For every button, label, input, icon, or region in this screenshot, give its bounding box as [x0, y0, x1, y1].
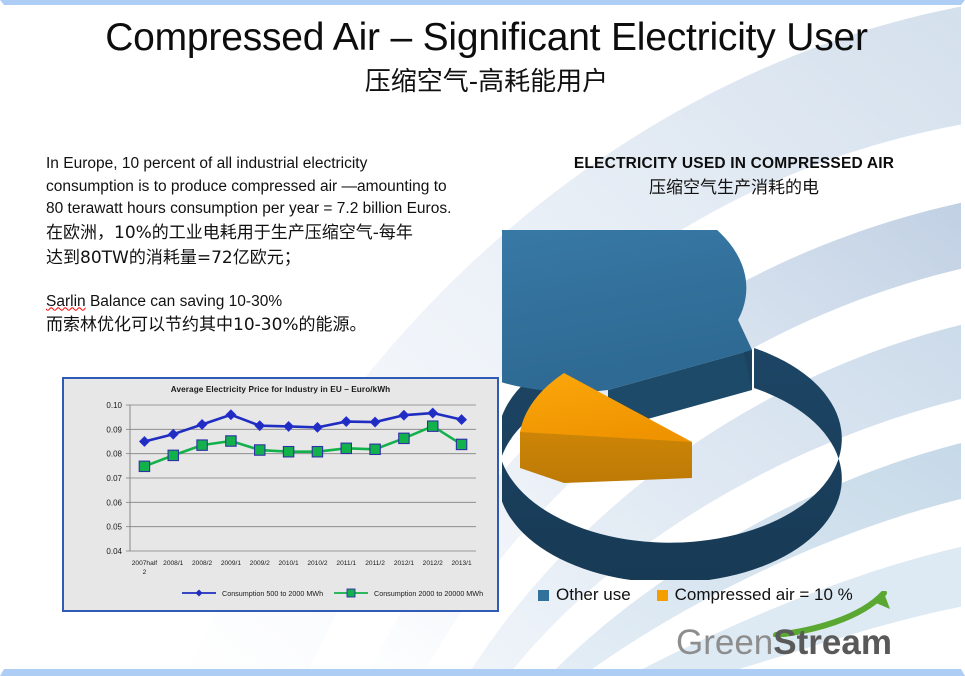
- svg-text:Consumption 500 to 2000 MWh: Consumption 500 to 2000 MWh: [222, 589, 323, 598]
- body-text-block: In Europe, 10 percent of all industrial …: [46, 153, 496, 338]
- legend-swatch-other-use: [538, 590, 549, 601]
- paragraph2-en-rest: Balance can saving 10-30%: [86, 293, 282, 310]
- svg-text:0.10: 0.10: [106, 401, 122, 410]
- svg-text:2009/2: 2009/2: [250, 560, 271, 567]
- svg-text:2010/1: 2010/1: [278, 560, 299, 567]
- paragraph1-en-line2: consumption is to produce compressed air…: [46, 176, 496, 199]
- svg-text:0.08: 0.08: [106, 450, 122, 459]
- pie-heading-english: ELECTRICITY USED IN COMPRESSED AIR: [504, 153, 964, 175]
- svg-text:0.04: 0.04: [106, 547, 122, 556]
- svg-text:2008/1: 2008/1: [163, 560, 184, 567]
- legend-swatch-compressed-air: [657, 590, 668, 601]
- logo-part-stream: Stream: [773, 623, 892, 662]
- paragraph2-en: Sarlin Balance can saving 10-30%: [46, 291, 496, 314]
- title-chinese: 压缩空气-高耗能用户: [4, 65, 965, 99]
- legend-item-other-use[interactable]: Other use: [538, 585, 631, 605]
- paragraph1-en-line3: 80 terawatt hours consumption per year =…: [46, 198, 496, 221]
- pie-heading-chinese: 压缩空气生产消耗的电: [504, 176, 964, 200]
- page-title: Compressed Air – Significant Electricity…: [4, 13, 965, 99]
- svg-text:0.07: 0.07: [106, 474, 122, 483]
- pie-chart[interactable]: [502, 230, 962, 580]
- title-english: Compressed Air – Significant Electricity…: [4, 13, 965, 63]
- svg-text:2012/2: 2012/2: [423, 560, 444, 567]
- svg-text:Consumption 2000 to 20000 MWh: Consumption 2000 to 20000 MWh: [374, 589, 483, 598]
- svg-text:2008/2: 2008/2: [192, 560, 213, 567]
- greenstream-logo[interactable]: GreenStream: [676, 613, 906, 665]
- svg-text:0.09: 0.09: [106, 425, 122, 434]
- logo-text: GreenStream: [676, 621, 892, 665]
- legend-label-other-use: Other use: [556, 585, 631, 605]
- sarlin-word: Sarlin: [46, 293, 86, 310]
- slide: Compressed Air – Significant Electricity…: [0, 0, 965, 676]
- paragraph-spacer: [46, 271, 496, 291]
- paragraph1-cn-line2: 达到80TW的消耗量=72亿欧元；: [46, 246, 496, 271]
- svg-text:2012/1: 2012/1: [394, 560, 415, 567]
- svg-text:2011/1: 2011/1: [336, 560, 356, 567]
- svg-text:0.06: 0.06: [106, 498, 122, 507]
- pie-chart-heading: ELECTRICITY USED IN COMPRESSED AIR 压缩空气生…: [504, 153, 964, 200]
- svg-text:0.05: 0.05: [106, 523, 122, 532]
- svg-text:2011/2: 2011/2: [365, 560, 385, 567]
- pie-chart-svg: [502, 230, 962, 580]
- line-chart[interactable]: Average Electricity Price for Industry i…: [62, 377, 499, 612]
- svg-text:2009/1: 2009/1: [221, 560, 242, 567]
- svg-text:2013/1: 2013/1: [451, 560, 472, 567]
- paragraph1-cn-line1: 在欧洲，10%的工业电耗用于生产压缩空气-每年: [46, 221, 496, 246]
- logo-part-green: Green: [676, 623, 773, 662]
- paragraph1-en-line1: In Europe, 10 percent of all industrial …: [46, 153, 496, 176]
- line-chart-svg: 0.040.050.060.070.080.090.102007half2200…: [64, 379, 497, 610]
- paragraph2-cn: 而索林优化可以节约其中10-30%的能源。: [46, 313, 496, 338]
- svg-text:2010/2: 2010/2: [307, 560, 328, 567]
- svg-text:2007half: 2007half: [132, 560, 157, 567]
- svg-text:2: 2: [143, 569, 147, 576]
